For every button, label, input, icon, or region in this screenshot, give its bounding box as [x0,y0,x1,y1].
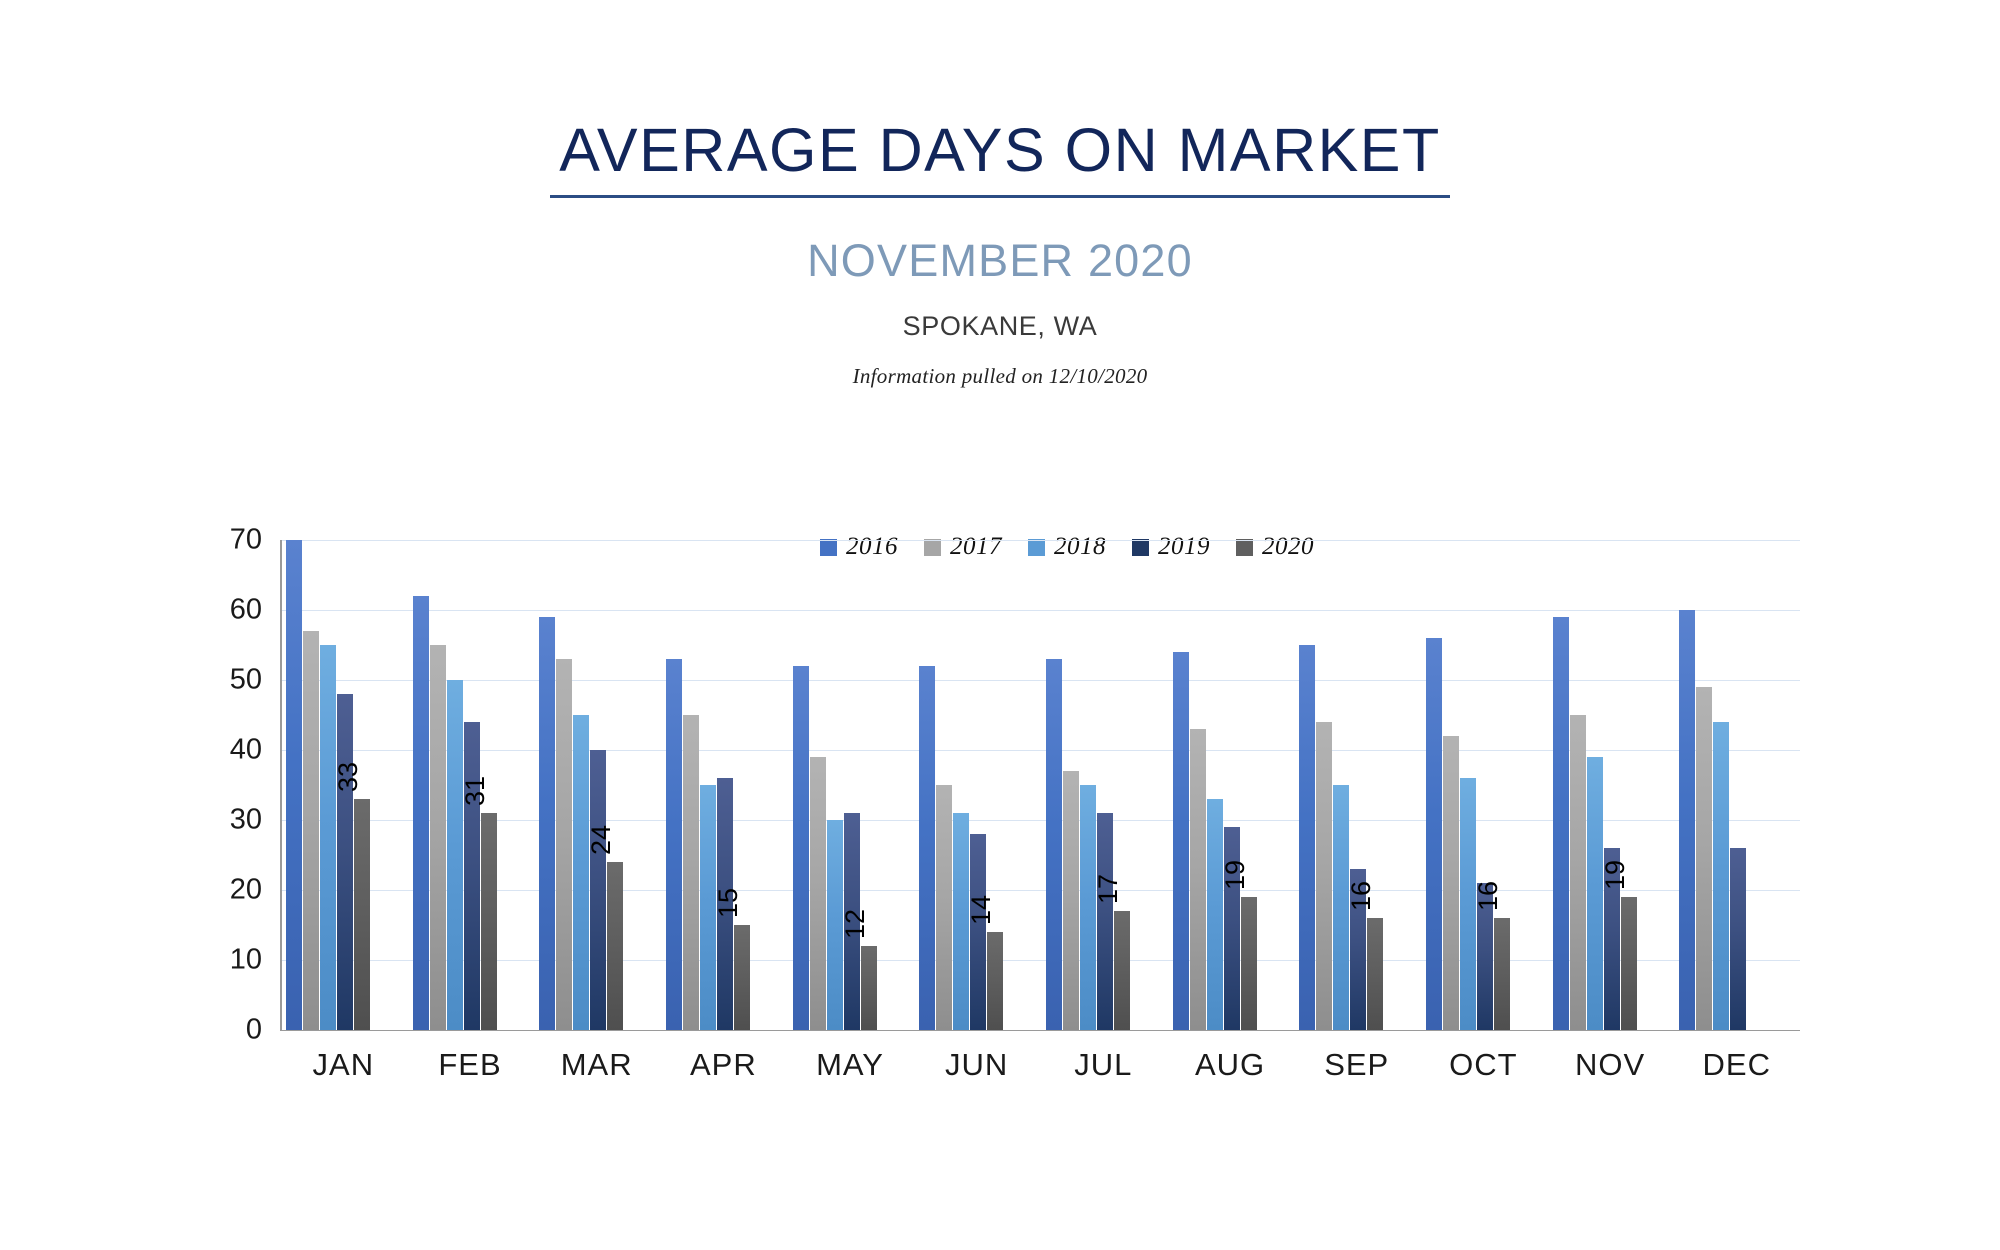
y-axis-labels: 010203040506070 [200,540,272,1030]
bar-jul-2019[interactable] [1097,813,1113,1030]
x-axis-label-jun: JUN [913,1047,1040,1083]
data-label-sep: 16 [1348,881,1375,911]
bar-jun-2019[interactable] [970,834,986,1030]
bar-chart: 20162017201820192020 010203040506070 333… [200,515,1820,1045]
bar-apr-2016[interactable] [666,659,682,1030]
bar-feb-2018[interactable] [447,680,463,1030]
data-label-may: 12 [842,909,869,939]
bar-jul-2020[interactable]: 17 [1114,911,1130,1030]
data-label-apr: 15 [715,888,742,918]
y-axis-tick-30: 30 [230,804,262,837]
bar-group-mar: 24 [533,540,660,1030]
bar-sep-2016[interactable] [1299,645,1315,1030]
bar-jan-2016[interactable] [286,540,302,1030]
bar-aug-2016[interactable] [1173,652,1189,1030]
x-axis-label-oct: OCT [1420,1047,1547,1083]
bar-may-2017[interactable] [810,757,826,1030]
slide-canvas: AVERAGE DAYS ON MARKET NOVEMBER 2020 SPO… [0,0,2000,1250]
bar-group-sep: 16 [1293,540,1420,1030]
bar-mar-2018[interactable] [573,715,589,1030]
x-axis-labels: JANFEBMARAPRMAYJUNJULAUGSEPOCTNOVDEC [280,1047,1800,1083]
bar-jun-2017[interactable] [936,785,952,1030]
y-axis-tick-0: 0 [246,1014,262,1047]
data-label-jun: 14 [968,895,995,925]
bar-group-aug: 19 [1167,540,1294,1030]
bar-dec-2016[interactable] [1679,610,1695,1030]
bar-jan-2020[interactable]: 33 [354,799,370,1030]
y-axis-tick-60: 60 [230,594,262,627]
x-axis-label-may: MAY [787,1047,914,1083]
bar-aug-2019[interactable] [1224,827,1240,1030]
bar-mar-2017[interactable] [556,659,572,1030]
bar-dec-2018[interactable] [1713,722,1729,1030]
bar-group-may: 12 [787,540,914,1030]
bar-feb-2020[interactable]: 31 [481,813,497,1030]
bar-aug-2018[interactable] [1207,799,1223,1030]
x-axis-label-jan: JAN [280,1047,407,1083]
bar-feb-2019[interactable] [464,722,480,1030]
bar-nov-2020[interactable]: 19 [1621,897,1637,1030]
data-label-mar: 24 [588,825,615,855]
bar-group-dec [1673,540,1800,1030]
bar-mar-2019[interactable] [590,750,606,1030]
bar-nov-2017[interactable] [1570,715,1586,1030]
bar-jan-2017[interactable] [303,631,319,1030]
bar-jan-2018[interactable] [320,645,336,1030]
y-axis-tick-10: 10 [230,944,262,977]
bar-aug-2020[interactable]: 19 [1241,897,1257,1030]
data-label-jan: 33 [335,762,362,792]
bar-jun-2020[interactable]: 14 [987,932,1003,1030]
bar-group-nov: 19 [1547,540,1674,1030]
bar-mar-2020[interactable]: 24 [607,862,623,1030]
bar-apr-2020[interactable]: 15 [734,925,750,1030]
x-axis-label-dec: DEC [1673,1047,1800,1083]
bar-jul-2017[interactable] [1063,771,1079,1030]
page-title: AVERAGE DAYS ON MARKET [0,120,2000,181]
bar-dec-2017[interactable] [1696,687,1712,1030]
bar-nov-2018[interactable] [1587,757,1603,1030]
bar-feb-2017[interactable] [430,645,446,1030]
x-axis-label-sep: SEP [1293,1047,1420,1083]
bar-group-oct: 16 [1420,540,1547,1030]
bar-group-feb: 31 [407,540,534,1030]
x-axis-label-aug: AUG [1167,1047,1294,1083]
x-axis-label-apr: APR [660,1047,787,1083]
data-label-feb: 31 [462,776,489,806]
data-label-oct: 16 [1475,881,1502,911]
bar-jan-2019[interactable] [337,694,353,1030]
market-location-label: SPOKANE, WA [0,313,2000,340]
x-axis-label-jul: JUL [1040,1047,1167,1083]
bar-oct-2016[interactable] [1426,638,1442,1030]
bar-jul-2016[interactable] [1046,659,1062,1030]
bar-group-apr: 15 [660,540,787,1030]
plot-area: 3331241512141719161619 [280,540,1800,1030]
data-pulled-note: Information pulled on 12/10/2020 [0,366,2000,387]
header: AVERAGE DAYS ON MARKET NOVEMBER 2020 SPO… [0,0,2000,387]
data-label-jul: 17 [1095,874,1122,904]
report-period-subtitle: NOVEMBER 2020 [0,238,2000,283]
gridline-0 [280,1030,1800,1031]
y-axis-tick-50: 50 [230,664,262,697]
y-axis-tick-70: 70 [230,524,262,557]
bar-groups: 3331241512141719161619 [280,540,1800,1030]
x-axis-label-nov: NOV [1547,1047,1674,1083]
bar-group-jun: 14 [913,540,1040,1030]
bar-sep-2017[interactable] [1316,722,1332,1030]
bar-mar-2016[interactable] [539,617,555,1030]
y-axis-tick-40: 40 [230,734,262,767]
bar-feb-2016[interactable] [413,596,429,1030]
bar-oct-2020[interactable]: 16 [1494,918,1510,1030]
bar-group-jan: 33 [280,540,407,1030]
bar-jun-2016[interactable] [919,666,935,1030]
bar-oct-2017[interactable] [1443,736,1459,1030]
bar-sep-2020[interactable]: 16 [1367,918,1383,1030]
bar-aug-2017[interactable] [1190,729,1206,1030]
bar-may-2020[interactable]: 12 [861,946,877,1030]
x-axis-label-mar: MAR [533,1047,660,1083]
title-underline-rule [550,195,1450,198]
data-label-nov: 19 [1602,860,1629,890]
bar-may-2016[interactable] [793,666,809,1030]
bar-dec-2019[interactable] [1730,848,1746,1030]
bar-nov-2016[interactable] [1553,617,1569,1030]
x-axis-label-feb: FEB [407,1047,534,1083]
bar-jul-2018[interactable] [1080,785,1096,1030]
y-axis-tick-20: 20 [230,874,262,907]
data-label-aug: 19 [1222,860,1249,890]
bar-group-jul: 17 [1040,540,1167,1030]
bar-apr-2017[interactable] [683,715,699,1030]
